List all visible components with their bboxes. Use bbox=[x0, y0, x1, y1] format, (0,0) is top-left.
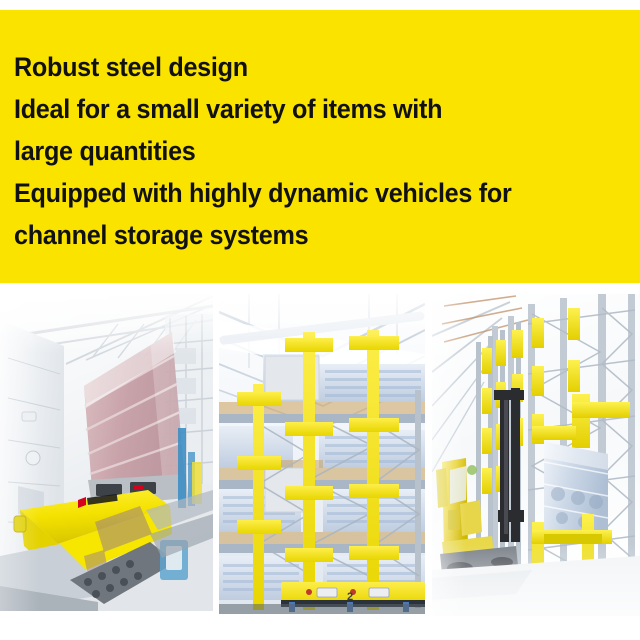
promo-page: Robust steel design Ideal for a small va… bbox=[0, 0, 640, 640]
photo-gallery: 2 bbox=[0, 294, 640, 616]
headline-line-1: Robust steel design bbox=[14, 46, 595, 88]
photo-reach-truck bbox=[432, 294, 640, 616]
photo-channel-racking-illustration: 2 bbox=[219, 294, 425, 614]
photo-pallet-shuttle-illustration bbox=[0, 294, 213, 611]
photo-pallet-shuttle bbox=[0, 294, 213, 611]
headline-line-5: channel storage systems bbox=[14, 214, 595, 256]
photo-channel-racking: 2 bbox=[219, 294, 425, 614]
headline-line-3: large quantities bbox=[14, 130, 595, 172]
headline-line-4: Equipped with highly dynamic vehicles fo… bbox=[14, 172, 595, 214]
vehicle-number-label: 2 bbox=[347, 591, 353, 603]
photo-reach-truck-illustration bbox=[432, 294, 640, 616]
headline-line-2: Ideal for a small variety of items with bbox=[14, 88, 595, 130]
headline-banner: Robust steel design Ideal for a small va… bbox=[0, 10, 640, 283]
